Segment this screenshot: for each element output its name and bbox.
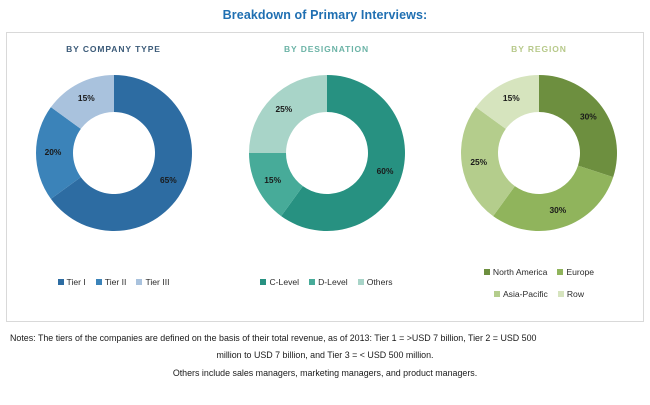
note-line: Others include sales managers, marketing… <box>0 365 650 382</box>
legend-item[interactable]: Tier I <box>58 277 86 287</box>
legend-swatch-icon <box>96 279 102 285</box>
panel-heading-company-type: BY COMPANY TYPE <box>7 44 220 54</box>
legend-swatch-icon <box>494 291 500 297</box>
chart-panel-region: BY REGION 30%30%25%15% North America Eur… <box>433 33 645 321</box>
donut-svg-company-type: 65%20%15% <box>30 69 198 237</box>
note-line: Notes: The tiers of the companies are de… <box>0 330 650 347</box>
donut-chart-region: 30%30%25%15% <box>455 69 623 237</box>
slice-value-label: 25% <box>470 157 487 167</box>
donut-chart-company-type: 65%20%15% <box>30 69 198 237</box>
legend-company-type: Tier I Tier II Tier III <box>7 277 220 287</box>
legend-swatch-icon <box>309 279 315 285</box>
legend-item[interactable]: C-Level <box>260 277 299 287</box>
legend-item[interactable]: Tier III <box>136 277 169 287</box>
legend-item[interactable]: North America <box>484 267 547 277</box>
notes-section: Notes: The tiers of the companies are de… <box>0 330 650 382</box>
slice-value-label: 65% <box>159 175 176 185</box>
legend-item[interactable]: Asia-Pacific <box>494 289 548 299</box>
page-title: Breakdown of Primary Interviews: <box>0 8 650 22</box>
slice-value-label: 30% <box>549 205 566 215</box>
legend-item[interactable]: Row <box>558 289 584 299</box>
legend-label: C-Level <box>269 277 299 287</box>
donut-chart-designation: 60%15%25% <box>243 69 411 237</box>
legend-label: North America <box>493 267 547 277</box>
panel-heading-region: BY REGION <box>433 44 645 54</box>
slice-value-label: 60% <box>376 166 393 176</box>
legend-label: Others <box>367 277 393 287</box>
legend-item[interactable]: Tier II <box>96 277 127 287</box>
infographic-page: Breakdown of Primary Interviews: BY COMP… <box>0 0 650 405</box>
slice-value-label: 30% <box>580 111 597 121</box>
legend-swatch-icon <box>358 279 364 285</box>
slice-value-label: 15% <box>503 93 520 103</box>
slice-value-label: 15% <box>264 175 281 185</box>
charts-container: BY COMPANY TYPE 65%20%15% Tier I Tier II… <box>6 32 644 322</box>
legend-label: Tier III <box>145 277 169 287</box>
legend-item[interactable]: Europe <box>557 267 594 277</box>
legend-item[interactable]: Others <box>358 277 393 287</box>
legend-label: Row <box>567 289 584 299</box>
legend-region-row-2: Asia-Pacific Row <box>433 289 645 299</box>
panel-heading-designation: BY DESIGNATION <box>220 44 433 54</box>
legend-swatch-icon <box>484 269 490 275</box>
slice-value-label: 25% <box>275 104 292 114</box>
donut-svg-region: 30%30%25%15% <box>455 69 623 237</box>
legend-designation: C-Level D-Level Others <box>220 277 433 287</box>
chart-panel-designation: BY DESIGNATION 60%15%25% C-Level D-Level… <box>220 33 433 321</box>
legend-swatch-icon <box>58 279 64 285</box>
legend-label: Tier II <box>105 277 127 287</box>
donut-slice[interactable] <box>539 75 617 177</box>
chart-panel-company-type: BY COMPANY TYPE 65%20%15% Tier I Tier II… <box>7 33 220 321</box>
legend-label: Europe <box>566 267 594 277</box>
legend-item[interactable]: D-Level <box>309 277 348 287</box>
donut-svg-designation: 60%15%25% <box>243 69 411 237</box>
legend-swatch-icon <box>558 291 564 297</box>
slice-value-label: 20% <box>44 147 61 157</box>
legend-swatch-icon <box>557 269 563 275</box>
donut-slice[interactable] <box>493 166 613 231</box>
legend-swatch-icon <box>136 279 142 285</box>
slice-value-label: 15% <box>77 93 94 103</box>
legend-swatch-icon <box>260 279 266 285</box>
legend-label: D-Level <box>318 277 348 287</box>
note-line: million to USD 7 billion, and Tier 3 = <… <box>0 347 650 364</box>
legend-region-row-1: North America Europe <box>433 267 645 277</box>
legend-label: Asia-Pacific <box>503 289 548 299</box>
legend-label: Tier I <box>67 277 86 287</box>
